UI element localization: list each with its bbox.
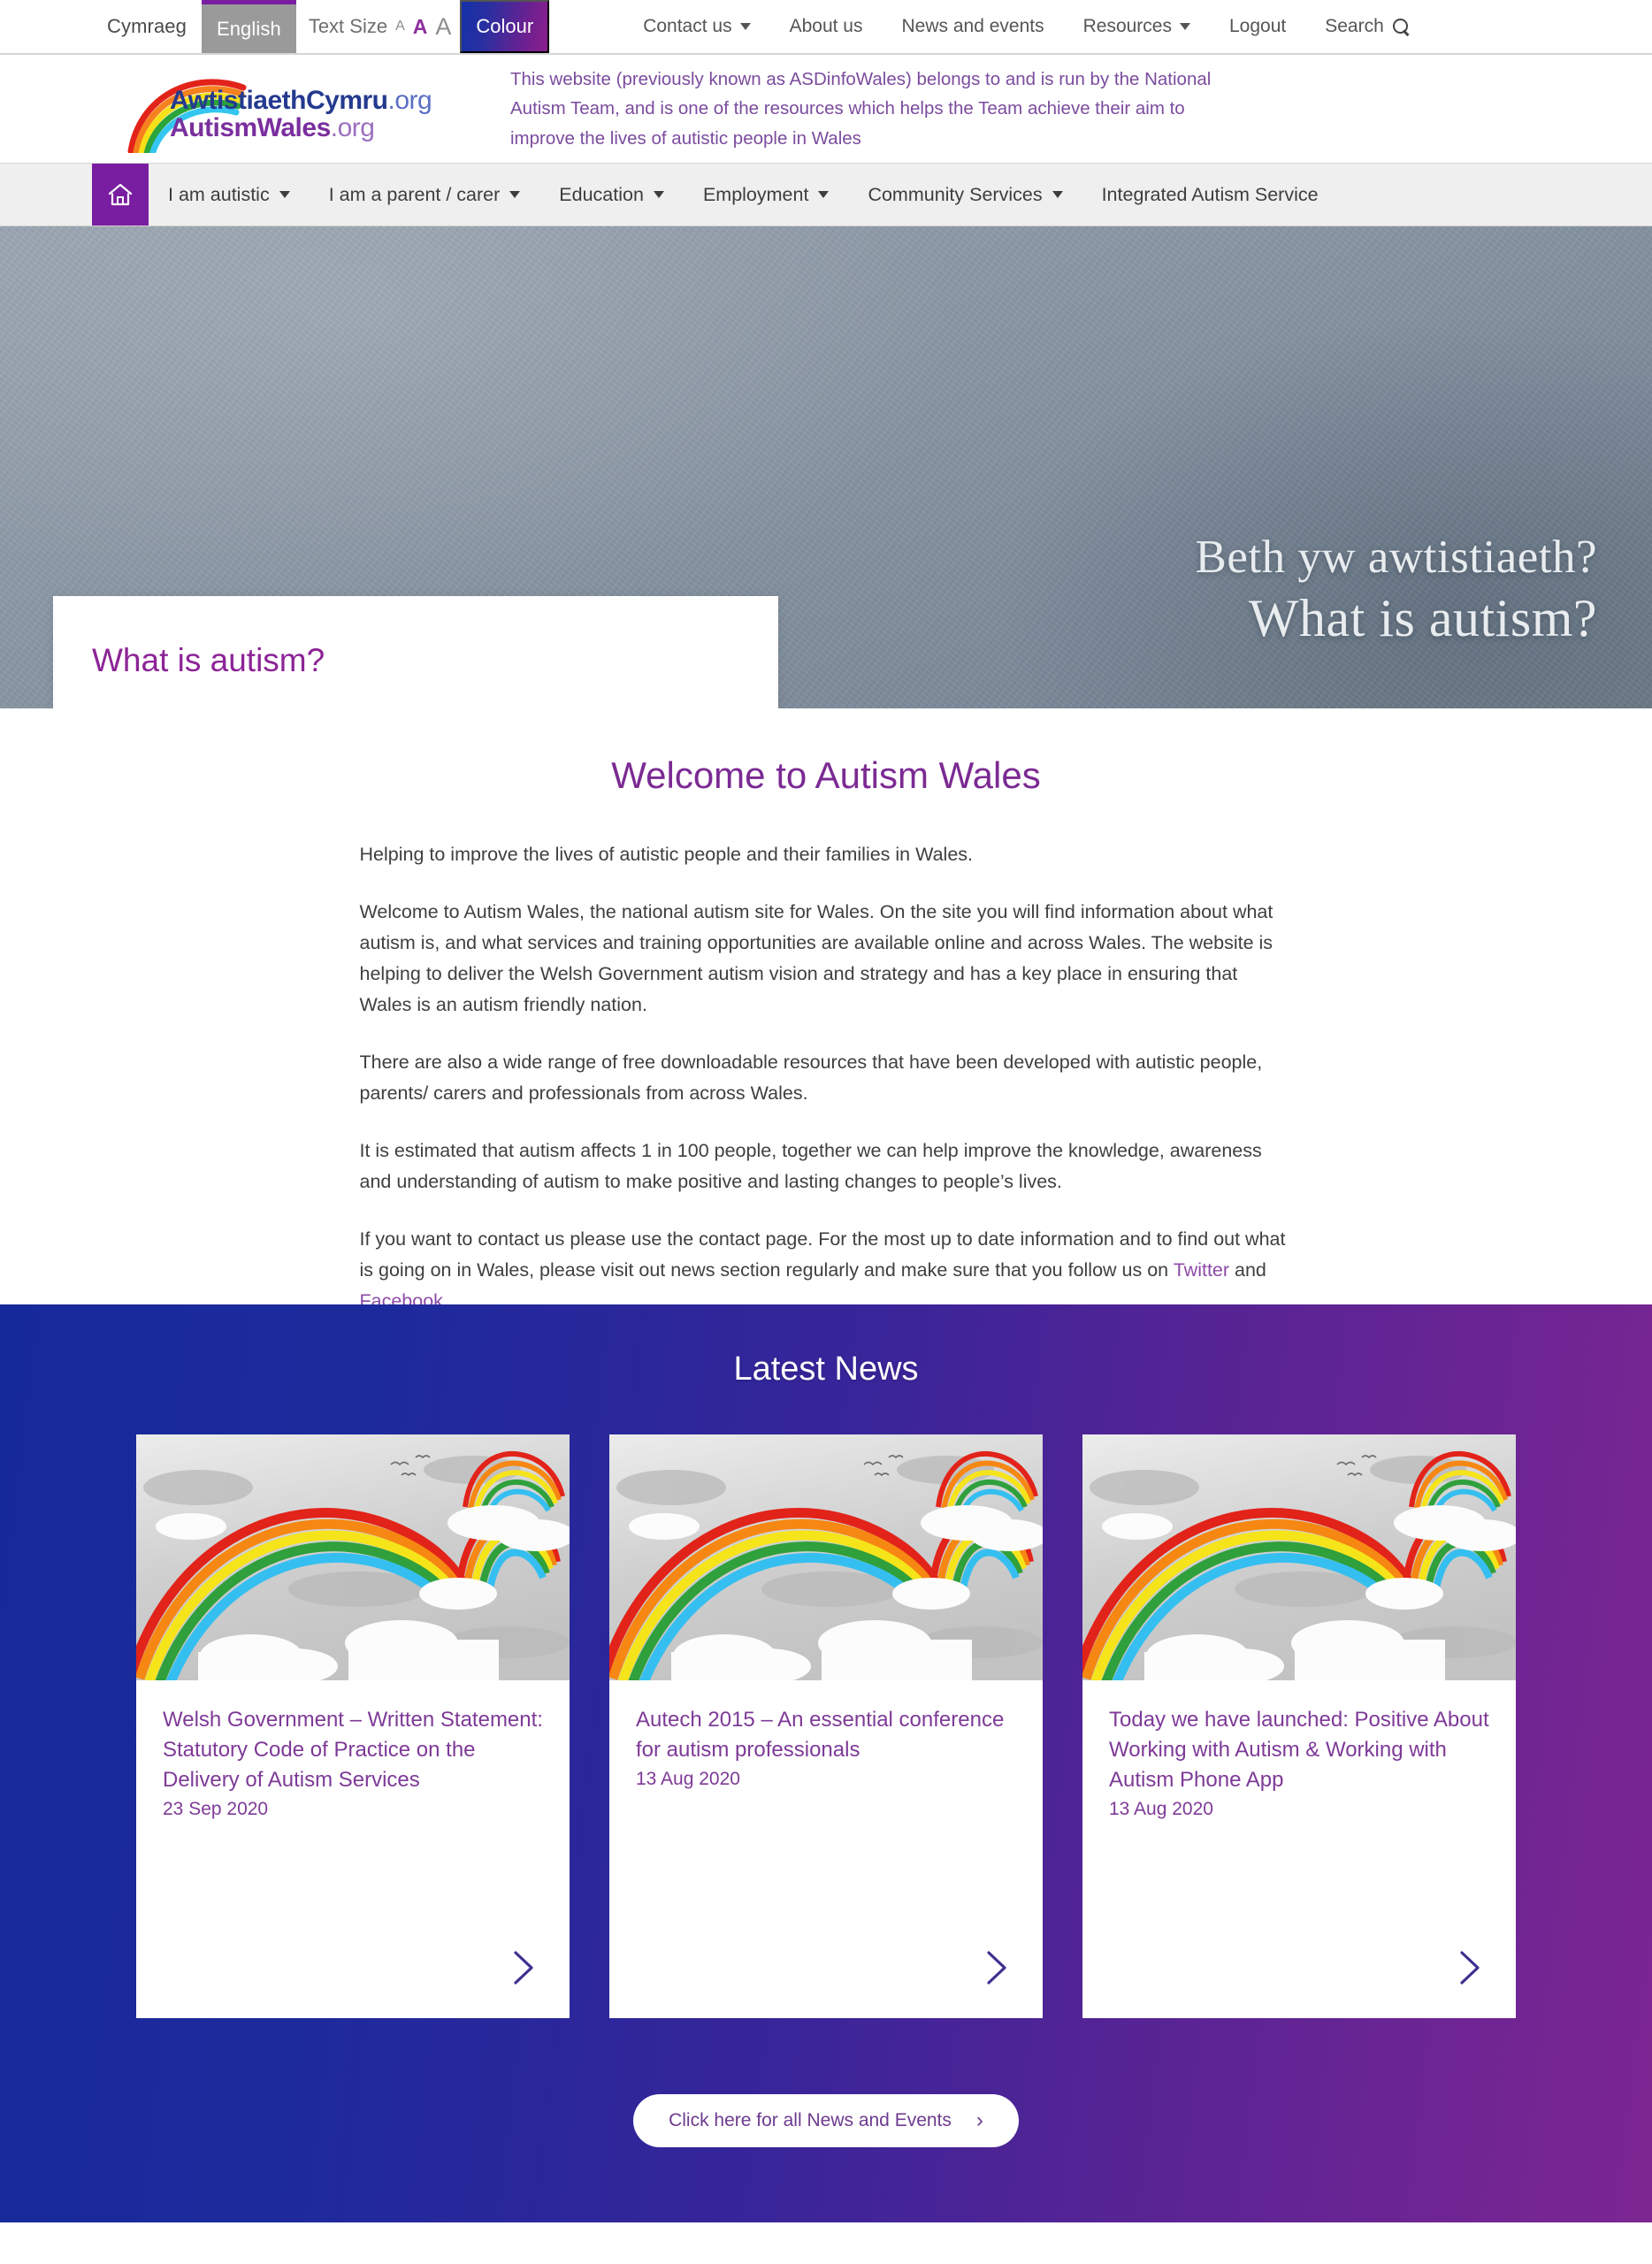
news-card-body: Today we have launched: Positive About W…: [1082, 1680, 1516, 1948]
utility-nav-logout[interactable]: Logout: [1210, 16, 1305, 37]
news-card-arrow[interactable]: [136, 1948, 570, 2018]
logo-line-english-tld: .org: [331, 113, 375, 142]
news-card-body: Autech 2015 – An essential conference fo…: [609, 1680, 1043, 1948]
welcome-body: Helping to improve the lives of autistic…: [360, 839, 1293, 1317]
search-icon: [1393, 19, 1409, 34]
language-cymraeg-button[interactable]: Cymraeg: [92, 0, 202, 53]
logo-line-welsh: AwtistiaethCymru.org: [170, 88, 432, 115]
welcome-paragraph-5-text-a: If you want to contact us please use the…: [360, 1228, 1286, 1281]
text-size-control: Text Size A A A: [296, 0, 459, 53]
twitter-link[interactable]: Twitter: [1174, 1259, 1229, 1281]
chevron-down-icon: [509, 191, 520, 198]
welcome-paragraph-5: If you want to contact us please use the…: [360, 1224, 1293, 1317]
header-description: This website (previously known as ASDinf…: [510, 65, 1253, 153]
hero-headline-welsh: Beth yw awtistiaeth?: [1196, 529, 1598, 586]
logo-line-english-text: AutismWales: [170, 113, 331, 142]
news-card-arrow[interactable]: [1082, 1948, 1516, 2018]
chevron-down-icon: [818, 191, 829, 198]
chevron-down-icon: [1052, 191, 1063, 198]
welcome-paragraph-1: Helping to improve the lives of autistic…: [360, 839, 1293, 870]
utility-nav-about-us[interactable]: About us: [770, 16, 883, 37]
brand-header: AwtistiaethCymru.org AutismWales.org Thi…: [0, 55, 1652, 163]
news-card-title: Autech 2015 – An essential conference fo…: [636, 1705, 1016, 1765]
rainbow-clouds-illustration-icon: [609, 1434, 1043, 1680]
news-card[interactable]: Autech 2015 – An essential conference fo…: [609, 1434, 1043, 2018]
news-card-image: [1082, 1434, 1516, 1680]
utility-nav-resources[interactable]: Resources: [1064, 16, 1210, 37]
utility-bar: Cymraeg English Text Size A A A Colour C…: [0, 0, 1652, 55]
news-card-title: Welsh Government – Written Statement: St…: [163, 1705, 543, 1795]
news-card-image: [609, 1434, 1043, 1680]
all-news-and-events-label: Click here for all News and Events: [669, 2110, 952, 2131]
news-card-arrow[interactable]: [609, 1948, 1043, 2018]
news-card-date: 13 Aug 2020: [636, 1769, 1016, 1790]
news-card[interactable]: Welsh Government – Written Statement: St…: [136, 1434, 570, 2018]
news-card-title: Today we have launched: Positive About W…: [1109, 1705, 1489, 1795]
main-navigation: I am autistic I am a parent / carer Educ…: [0, 163, 1652, 226]
utility-nav-news-and-events[interactable]: News and events: [883, 16, 1064, 37]
welcome-paragraph-4: It is estimated that autism affects 1 in…: [360, 1136, 1293, 1197]
home-button[interactable]: [92, 164, 149, 226]
logo-line-english: AutismWales.org: [170, 115, 432, 142]
site-logo[interactable]: AwtistiaethCymru.org AutismWales.org: [124, 65, 451, 153]
text-size-small-button[interactable]: A: [395, 19, 405, 34]
text-size-medium-button[interactable]: A: [413, 15, 428, 39]
nav-item-employment[interactable]: Employment: [684, 164, 849, 226]
utility-nav-label: Contact us: [643, 16, 731, 37]
chevron-down-icon: [654, 191, 664, 198]
chevron-right-icon: [509, 1948, 538, 1987]
colour-contrast-button[interactable]: Colour: [460, 0, 549, 53]
utility-nav-label: News and events: [902, 16, 1044, 37]
hero-promo-card: What is autism? View our film and certif…: [53, 596, 778, 708]
nav-item-label: Education: [559, 184, 644, 206]
nav-item-integrated-autism-service[interactable]: Integrated Autism Service: [1082, 164, 1338, 226]
latest-news-title: Latest News: [0, 1350, 1652, 1388]
all-news-and-events-button[interactable]: Click here for all News and Events ›: [633, 2094, 1019, 2147]
rainbow-clouds-illustration-icon: [1082, 1434, 1516, 1680]
welcome-section: Welcome to Autism Wales Helping to impro…: [0, 708, 1652, 1304]
rainbow-clouds-illustration-icon: [136, 1434, 570, 1680]
utility-nav-search[interactable]: Search: [1305, 16, 1428, 37]
page-title: Welcome to Autism Wales: [0, 754, 1652, 797]
nav-item-label: Integrated Autism Service: [1102, 184, 1319, 206]
chevron-right-icon: [1456, 1948, 1484, 1987]
welcome-paragraph-3: There are also a wide range of free down…: [360, 1047, 1293, 1109]
chevron-down-icon: [279, 191, 290, 198]
latest-news-section: Latest News: [0, 1304, 1652, 2222]
hero-headline-english: What is autism?: [1196, 586, 1598, 651]
hero-banner: Beth yw awtistiaeth? What is autism? Wha…: [0, 226, 1652, 708]
nav-item-i-am-autistic[interactable]: I am autistic: [149, 164, 310, 226]
logo-line-welsh-tld: .org: [388, 86, 432, 115]
nav-item-label: Community Services: [868, 184, 1042, 206]
hero-banner-headline: Beth yw awtistiaeth? What is autism?: [1196, 529, 1598, 651]
logo-line-welsh-text: AwtistiaethCymru: [170, 86, 388, 115]
utility-nav-label: Resources: [1083, 16, 1172, 37]
home-icon: [107, 182, 134, 207]
news-card[interactable]: Today we have launched: Positive About W…: [1082, 1434, 1516, 2018]
hero-card-text: View our film and certification scheme t…: [92, 704, 739, 708]
utility-nav-contact-us[interactable]: Contact us: [623, 16, 769, 37]
nav-item-education[interactable]: Education: [539, 164, 684, 226]
utility-nav: Contact us About us News and events Reso…: [623, 0, 1428, 53]
nav-item-label: I am autistic: [168, 184, 270, 206]
news-card-date: 23 Sep 2020: [163, 1799, 543, 1820]
news-card-image: [136, 1434, 570, 1680]
news-card-body: Welsh Government – Written Statement: St…: [136, 1680, 570, 1948]
welcome-paragraph-5-text-b: and: [1229, 1259, 1266, 1281]
nav-item-i-am-a-parent-carer[interactable]: I am a parent / carer: [310, 164, 540, 226]
news-cta-wrapper: Click here for all News and Events ›: [0, 2094, 1652, 2147]
chevron-right-icon: ›: [976, 2108, 983, 2133]
chevron-down-icon: [740, 23, 751, 30]
hero-card-title: What is autism?: [92, 642, 739, 679]
utility-nav-label: Logout: [1229, 16, 1286, 37]
news-card-list: Welsh Government – Written Statement: St…: [0, 1434, 1652, 2018]
nav-item-label: Employment: [703, 184, 809, 206]
text-size-label: Text Size: [309, 15, 387, 38]
nav-item-community-services[interactable]: Community Services: [848, 164, 1082, 226]
language-english-button[interactable]: English: [202, 0, 296, 53]
utility-nav-label: About us: [790, 16, 863, 37]
utility-nav-label: Search: [1325, 16, 1384, 37]
chevron-right-icon: [983, 1948, 1011, 1987]
accessibility-controls: Cymraeg English Text Size A A A Colour: [92, 0, 549, 53]
text-size-large-button[interactable]: A: [435, 13, 451, 41]
nav-item-label: I am a parent / carer: [329, 184, 501, 206]
welcome-paragraph-2: Welcome to Autism Wales, the national au…: [360, 897, 1293, 1021]
chevron-down-icon: [1180, 23, 1190, 30]
logo-wordmark: AwtistiaethCymru.org AutismWales.org: [170, 88, 432, 141]
news-card-date: 13 Aug 2020: [1109, 1799, 1489, 1820]
